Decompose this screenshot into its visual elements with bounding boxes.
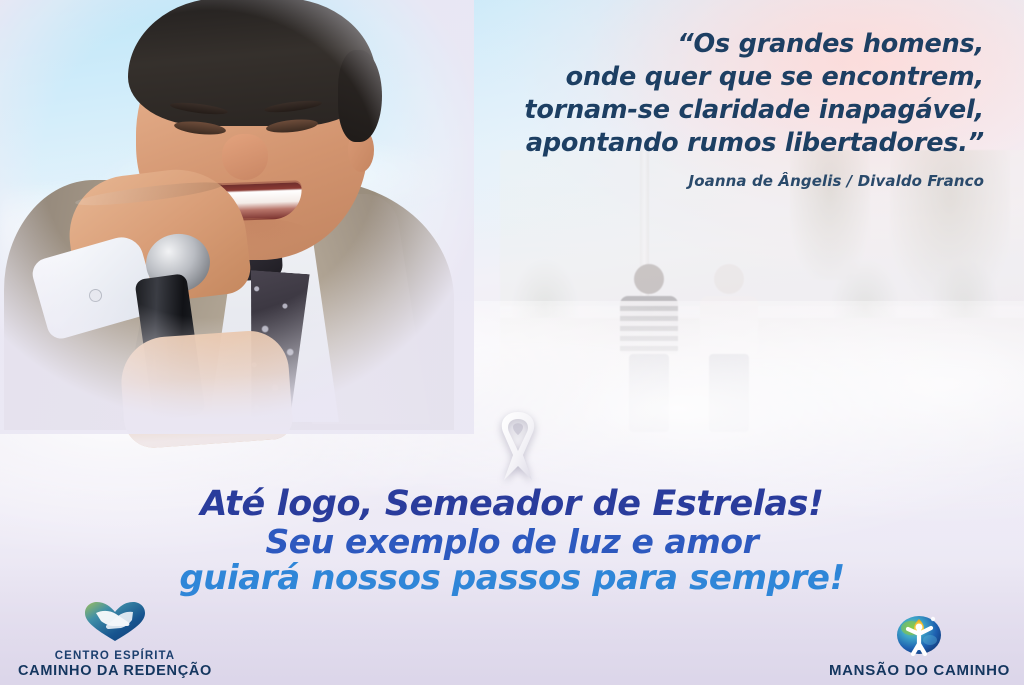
quote-line-2: onde quer que se encontrem, xyxy=(424,61,984,94)
logo-mansao-do-caminho: MANSÃO DO CAMINHO xyxy=(829,606,1010,679)
globe-figure-flame-logo-icon xyxy=(886,606,952,661)
logo-right-line-2: MANSÃO DO CAMINHO xyxy=(829,663,1010,679)
headline-line-1: Até logo, Semeador de Estrelas! xyxy=(0,486,1024,523)
headline-line-3: guiará nossos passos para sempre! xyxy=(0,560,1024,597)
quote-attribution: Joanna de Ângelis / Divaldo Franco xyxy=(424,172,984,190)
headline-block: Até logo, Semeador de Estrelas! Seu exem… xyxy=(0,486,1024,597)
logo-left-line-2: CAMINHO DA REDENÇÃO xyxy=(18,663,212,679)
portrait-photo xyxy=(0,0,464,424)
white-mourning-ribbon-icon xyxy=(480,408,556,488)
quote-block: “Os grandes homens, onde quer que se enc… xyxy=(424,28,984,190)
background-figure-white xyxy=(700,264,758,432)
background-figure-striped xyxy=(620,264,678,432)
memorial-poster: “Os grandes homens, onde quer que se enc… xyxy=(0,0,1024,685)
headline-line-2: Seu exemplo de luz e amor xyxy=(0,523,1024,560)
logo-centro-espirita: CENTRO ESPÍRITA CAMINHO DA REDENÇÃO xyxy=(18,601,212,679)
faded-plaza-photo xyxy=(500,150,1024,450)
quote-line-3: tornam-se claridade inapagável, xyxy=(424,94,984,127)
quote-line-4: apontando rumos libertadores.” xyxy=(424,127,984,160)
logo-left-line-1: CENTRO ESPÍRITA xyxy=(55,650,175,663)
heart-hands-logo-icon xyxy=(83,601,147,648)
quote-line-1: “Os grandes homens, xyxy=(424,28,984,61)
